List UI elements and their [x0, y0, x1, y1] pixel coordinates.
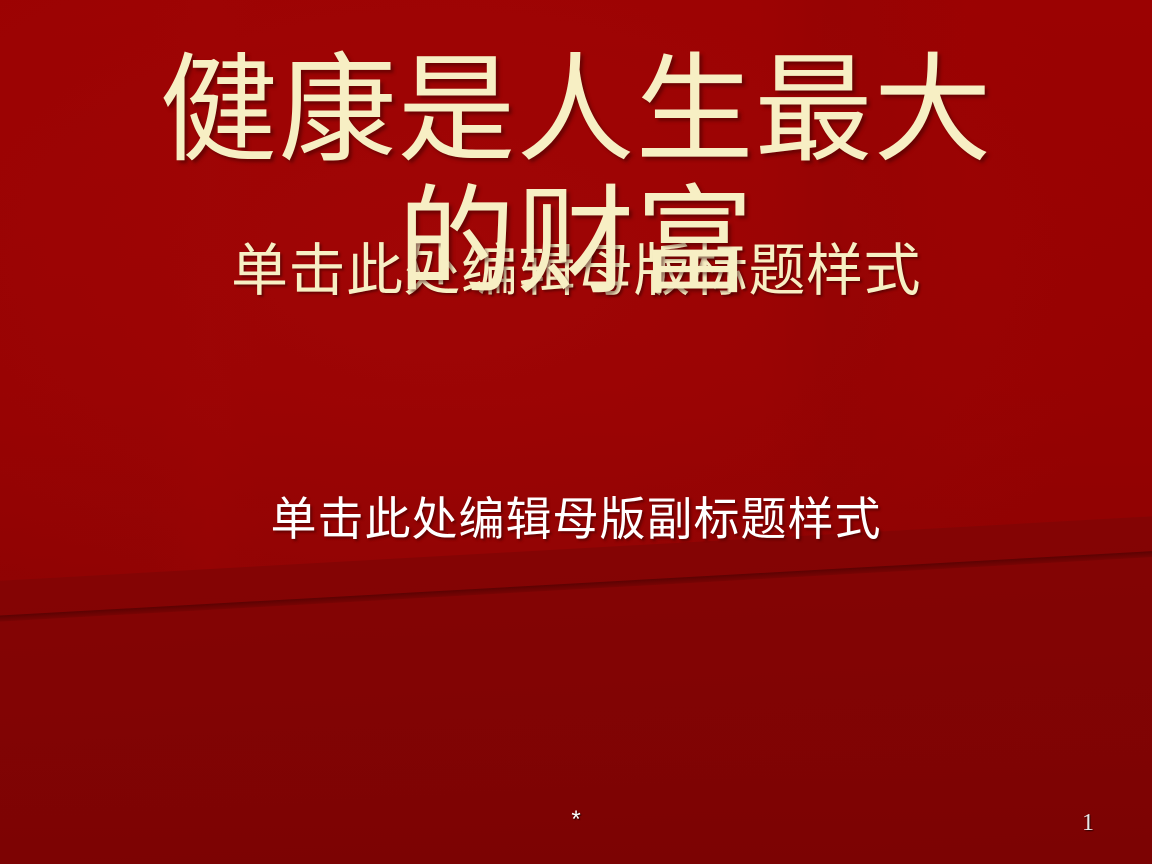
slide-title-line-2: 的财富	[60, 178, 1092, 310]
slide-number: 1	[1082, 810, 1094, 837]
presentation-slide: 单击此处编辑母版标题样式 健康是人生最大 的财富 单击此处编辑母版副标题样式 *…	[0, 0, 1152, 864]
master-subtitle-placeholder[interactable]: 单击此处编辑母版副标题样式	[96, 492, 1056, 547]
footer-date-placeholder[interactable]: *	[0, 806, 1152, 834]
slide-title-line-1: 健康是人生最大	[60, 46, 1092, 178]
slide-title[interactable]: 健康是人生最大 的财富	[60, 46, 1092, 310]
background-bottom-shade	[0, 726, 1152, 864]
